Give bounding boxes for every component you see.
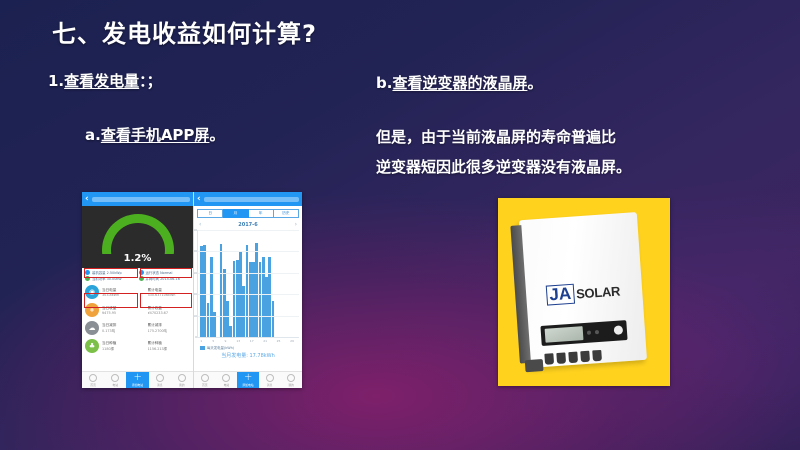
chart-ytick: 500 (194, 292, 197, 296)
stat-rows: ◉ 当日电量 303.8kWh 累计电量 330.637106kWh ¥ 当日收… (82, 282, 193, 356)
chart-xticks: 1591317212529 (200, 339, 297, 343)
inverter-control-panel (540, 320, 627, 346)
nav-item-messages[interactable]: 消息 (259, 372, 281, 388)
mini-stat-label: 运行状态 Normal (146, 270, 173, 275)
nav-item-plants[interactable]: 电站 (216, 372, 238, 388)
stat-cell-left: 当日电量 303.8kWh (102, 288, 145, 297)
bullet-1a-keyword: 查看手机APP屏 (101, 126, 210, 144)
nav-item-add[interactable]: +添加电站 (126, 372, 148, 388)
stat-cell-right: 累计减排 175.2700吨 (148, 323, 191, 333)
app-header-right: ‹ (194, 192, 302, 206)
legend-label: 每天发电量(kWh) (207, 345, 234, 350)
bottom-nav-left: 首页 电站 +添加电站 消息 我的 (82, 371, 193, 388)
tab-day[interactable]: 日 (197, 209, 223, 218)
chart-gridline (198, 273, 299, 274)
status-icon (139, 270, 144, 275)
inverter-photo: JA SOLAR (498, 198, 670, 386)
nav-label: 电站 (224, 383, 230, 387)
app-header-title-right (204, 197, 299, 202)
bullet-b-prefix: b. (376, 74, 392, 92)
lcd-screen (545, 326, 584, 343)
stat-value: 330.637106kWh (148, 293, 191, 297)
bottom-nav-right: 首页 电站 +添加电站 消息 我的 (194, 371, 302, 388)
stat-value: 1156.213棵 (148, 346, 191, 351)
bullet-1a-prefix: a. (85, 126, 101, 144)
bullet-b-suffix: 。 (527, 74, 542, 92)
panel-button[interactable] (595, 330, 599, 334)
page-title: 七、发电收益如何计算? (52, 14, 317, 49)
chart-xtick: 13 (236, 339, 240, 343)
period-tabs: 日 月 年 历史 (194, 206, 302, 220)
nav-label: 首页 (202, 383, 208, 387)
chart-ytick: 1250 (194, 228, 197, 232)
stat-value: ¥475.95 (102, 311, 145, 315)
message-icon (266, 374, 274, 382)
inverter-connectors (544, 347, 631, 365)
date-navigator: ‹ 2017-6 › (194, 220, 302, 230)
panel-knob[interactable] (614, 325, 624, 335)
stat-value: ¥470233.67 (148, 311, 191, 315)
tab-history[interactable]: 历史 (274, 209, 299, 218)
chart-bar (272, 301, 275, 337)
back-icon[interactable]: ‹ (197, 195, 201, 204)
app-panel-chart: ‹ 日 月 年 历史 ‹ 2017-6 › 1591317212529 0250… (194, 192, 302, 388)
home-icon (201, 374, 209, 382)
mini-stat-label: 当前功率 30.00kW (92, 276, 122, 281)
bullet-item-b: b.查看逆变器的液晶屏。 (376, 72, 542, 93)
nav-label: 首页 (90, 383, 96, 387)
chart-xtick (294, 339, 297, 343)
list-item[interactable]: ☁ 当日减排 0.173吨 累计减排 175.2700吨 (85, 319, 190, 337)
current-period: 2017-6 (238, 222, 257, 228)
slide-canvas: 七、发电收益如何计算? 1.查看发电量：； a.查看手机APP屏。 b.查看逆变… (0, 0, 800, 450)
nav-label: 电站 (113, 383, 119, 387)
chart-ytick: 0 (194, 335, 197, 339)
gauge-section: 1.2% (82, 206, 193, 268)
connector (592, 350, 602, 362)
app-header-left: ‹ (82, 192, 193, 206)
energy-bar-chart: 1591317212529 025050075010001250 (197, 230, 299, 338)
nav-item-home[interactable]: 首页 (82, 372, 104, 388)
chart-gridline (198, 294, 299, 295)
tree-icon: ♣ (85, 339, 99, 353)
stat-value: 303.8kWh (102, 293, 145, 297)
home-icon (89, 374, 97, 382)
chart-bars (200, 230, 297, 337)
stat-cell-left: 当日减排 0.173吨 (102, 323, 145, 333)
stat-cell-left: 当日收益 ¥475.95 (102, 306, 145, 315)
mini-stat-label: 并网时间 2015-06-16 (146, 276, 180, 281)
nav-label: 消息 (267, 383, 273, 387)
connector (544, 353, 554, 365)
nav-label: 我的 (179, 383, 185, 387)
profile-icon (287, 374, 295, 382)
emission-icon: ☁ (85, 321, 99, 335)
mini-stat: 运行状态 Normal (139, 270, 191, 275)
bullet-1-prefix: 1. (48, 72, 64, 90)
gauge-arc (102, 214, 174, 254)
prev-period-icon[interactable]: ‹ (199, 221, 201, 228)
inverter-heatsink (510, 225, 531, 363)
nav-label: 添加电站 (242, 383, 253, 387)
nav-item-add[interactable]: +添加电站 (237, 372, 259, 388)
nav-label: 消息 (157, 383, 163, 387)
nav-item-plants[interactable]: 电站 (104, 372, 126, 388)
capacity-icon (85, 270, 90, 275)
chart-ytick: 750 (194, 271, 197, 275)
tab-month[interactable]: 月 (223, 209, 248, 218)
chart-xtick: 17 (250, 339, 254, 343)
power-icon (85, 276, 90, 281)
inverter-chassis: JA SOLAR (519, 212, 647, 368)
logo-mark: JA (546, 284, 575, 306)
stat-value: 0.173吨 (102, 328, 145, 333)
chart-xtick: 29 (290, 339, 294, 343)
chart-ytick: 1000 (194, 249, 197, 253)
connector (556, 352, 566, 364)
nav-item-messages[interactable]: 消息 (149, 372, 171, 388)
gauge-value: 1.2% (82, 253, 193, 264)
inverter-mount-foot (525, 359, 544, 372)
plant-icon (222, 374, 230, 382)
app-panel-overview: ‹ 1.2% 装机容量 2.50kWp 运行状态 Normal 当前功率 30.… (82, 192, 194, 388)
nav-label: 添加电站 (132, 383, 143, 387)
chart-gridline (198, 230, 299, 231)
plus-icon: + (244, 374, 252, 382)
revenue-icon: ¥ (85, 303, 99, 317)
mini-stat-label: 装机容量 2.50kWp (92, 270, 122, 275)
ja-solar-logo: JA SOLAR (546, 280, 621, 305)
stat-cell-right: 累计种植 1156.213棵 (148, 341, 191, 351)
tab-year[interactable]: 年 (249, 209, 274, 218)
next-period-icon[interactable]: › (295, 221, 297, 228)
message-icon (156, 374, 164, 382)
bullet-b-keyword: 查看逆变器的液晶屏 (392, 74, 527, 92)
app-header-title-left (92, 197, 190, 202)
nav-item-profile[interactable]: 我的 (171, 372, 193, 388)
chart-gridline (198, 251, 299, 252)
note-line-1: 但是，由于当前液晶屏的寿命普遍比 (376, 126, 616, 147)
note-line-2: 逆变器短因此很多逆变器没有液晶屏。 (376, 156, 631, 177)
connector (568, 352, 578, 364)
mini-stat: 并网时间 2015-06-16 (139, 276, 191, 281)
nav-item-profile[interactable]: 我的 (280, 372, 302, 388)
stat-cell-right: 累计收益 ¥470233.67 (148, 306, 191, 315)
monthly-total: 当月发电量: 17.78kWh (194, 350, 302, 359)
mini-stat: 当前功率 30.00kW (85, 276, 137, 281)
grid-date-icon (139, 276, 144, 281)
plus-icon: + (134, 374, 142, 382)
phone-app-screenshot: ‹ 1.2% 装机容量 2.50kWp 运行状态 Normal 当前功率 30.… (82, 192, 302, 388)
legend-swatch (200, 346, 205, 350)
stat-cell-left: 当日种植 1180棵 (102, 341, 145, 351)
back-icon[interactable]: ‹ (85, 195, 89, 204)
stat-value: 1180棵 (102, 346, 145, 351)
mini-stat: 装机容量 2.50kWp (85, 270, 137, 275)
bullet-item-1: 1.查看发电量：； (48, 70, 162, 91)
nav-label: 我的 (288, 383, 294, 387)
energy-icon: ◉ (85, 285, 99, 299)
connector (580, 351, 590, 363)
profile-icon (178, 374, 186, 382)
bullet-item-1a: a.查看手机APP屏。 (85, 124, 224, 145)
bullet-1a-suffix: 。 (209, 126, 224, 144)
logo-word: SOLAR (576, 283, 621, 301)
plant-icon (111, 374, 119, 382)
list-item[interactable]: ♣ 当日种植 1180棵 累计种植 1156.213棵 (85, 337, 190, 355)
chart-gridline (198, 316, 299, 317)
panel-button[interactable] (587, 330, 591, 334)
bullet-1-suffix: ：； (139, 72, 162, 90)
chart-xtick: 25 (277, 339, 281, 343)
chart-ytick: 250 (194, 314, 197, 318)
stat-cell-right: 累计电量 330.637106kWh (148, 288, 191, 297)
list-item[interactable]: ◉ 当日电量 303.8kWh 累计电量 330.637106kWh (85, 283, 190, 301)
list-item[interactable]: ¥ 当日收益 ¥475.95 累计收益 ¥470233.67 (85, 301, 190, 319)
bullet-1-keyword: 查看发电量 (64, 72, 139, 90)
chart-xtick: 21 (263, 339, 267, 343)
stat-value: 175.2700吨 (148, 328, 191, 333)
mini-stats-grid: 装机容量 2.50kWp 运行状态 Normal 当前功率 30.00kW 并网… (82, 268, 193, 282)
nav-item-home[interactable]: 首页 (194, 372, 216, 388)
